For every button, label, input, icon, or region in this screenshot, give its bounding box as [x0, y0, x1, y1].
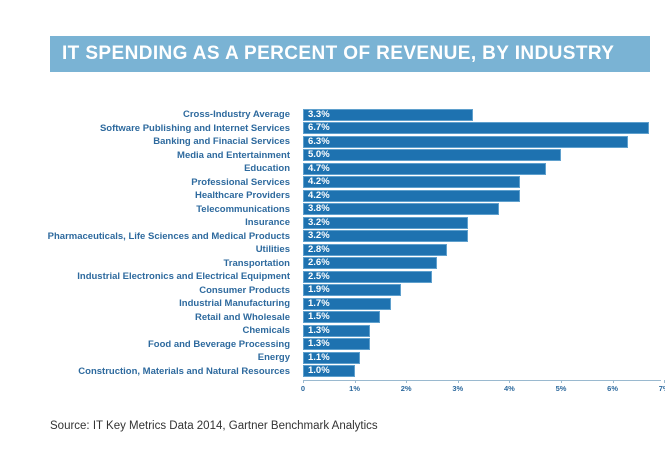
tick-label: 0	[301, 384, 305, 393]
category-label: Professional Services	[0, 176, 296, 190]
tick-mark	[303, 380, 304, 383]
bar-row: Food and Beverage Processing1.3%	[0, 338, 665, 352]
category-label: Food and Beverage Processing	[0, 338, 296, 352]
category-label: Energy	[0, 351, 296, 365]
bar: 3.2%	[303, 230, 468, 242]
tick-mark	[355, 380, 356, 383]
bar-value-label: 1.9%	[304, 285, 330, 295]
category-label: Healthcare Providers	[0, 189, 296, 203]
tick-label: 3%	[452, 384, 463, 393]
bar: 3.3%	[303, 109, 473, 121]
bar-track: 4.2%	[303, 176, 520, 188]
bar-row: Retail and Wholesale1.5%	[0, 311, 665, 325]
bar-row: Energy1.1%	[0, 351, 665, 365]
bar-track: 1.3%	[303, 338, 370, 350]
bar: 2.5%	[303, 271, 432, 283]
bar: 6.7%	[303, 122, 649, 134]
bar-row: Transportation2.6%	[0, 257, 665, 271]
category-label: Construction, Materials and Natural Reso…	[0, 365, 296, 379]
bar-value-label: 4.2%	[304, 191, 330, 201]
bar-row: Industrial Manufacturing1.7%	[0, 297, 665, 311]
bar-value-label: 6.3%	[304, 137, 330, 147]
bar: 1.5%	[303, 311, 380, 323]
bar-row: Cross-Industry Average3.3%	[0, 108, 665, 122]
bar-track: 5.0%	[303, 149, 561, 161]
bar: 1.1%	[303, 352, 360, 364]
bar-value-label: 2.8%	[304, 245, 330, 255]
bar-track: 3.3%	[303, 109, 473, 121]
tick-mark	[561, 380, 562, 383]
bar: 4.2%	[303, 176, 520, 188]
bar-track: 1.0%	[303, 365, 355, 377]
bar-value-label: 5.0%	[304, 150, 330, 160]
bar-value-label: 1.7%	[304, 299, 330, 309]
bar-value-label: 2.6%	[304, 258, 330, 268]
x-axis-line	[303, 380, 661, 381]
bar-value-label: 3.2%	[304, 218, 330, 228]
bar-value-label: 3.2%	[304, 231, 330, 241]
bar-value-label: 3.8%	[304, 204, 330, 214]
tick-mark	[458, 380, 459, 383]
bar-row: Industrial Electronics and Electrical Eq…	[0, 270, 665, 284]
category-label: Insurance	[0, 216, 296, 230]
bar-value-label: 1.0%	[304, 366, 330, 376]
bar-row: Education4.7%	[0, 162, 665, 176]
category-label: Consumer Products	[0, 284, 296, 298]
bar: 3.2%	[303, 217, 468, 229]
bar-track: 2.8%	[303, 244, 447, 256]
bar-row: Consumer Products1.9%	[0, 284, 665, 298]
category-label: Cross-Industry Average	[0, 108, 296, 122]
bar-row: Insurance3.2%	[0, 216, 665, 230]
category-label: Education	[0, 162, 296, 176]
bar-value-label: 2.5%	[304, 272, 330, 282]
bar-value-label: 1.3%	[304, 339, 330, 349]
category-label: Industrial Electronics and Electrical Eq…	[0, 270, 296, 284]
tick-label: 2%	[401, 384, 412, 393]
tick-label: 4%	[504, 384, 515, 393]
bar: 5.0%	[303, 149, 561, 161]
bar-track: 4.7%	[303, 163, 546, 175]
bar: 6.3%	[303, 136, 628, 148]
tick-label: 6%	[607, 384, 618, 393]
page-title: IT SPENDING AS A PERCENT OF REVENUE, BY …	[50, 43, 614, 65]
bar: 3.8%	[303, 203, 499, 215]
bar-value-label: 1.5%	[304, 312, 330, 322]
bar-track: 2.5%	[303, 271, 432, 283]
bar-row: Pharmaceuticals, Life Sciences and Medic…	[0, 230, 665, 244]
tick-label: 7%	[659, 384, 665, 393]
category-label: Pharmaceuticals, Life Sciences and Medic…	[0, 230, 296, 244]
bar-chart: Cross-Industry Average3.3%Software Publi…	[0, 108, 665, 380]
bar-value-label: 4.2%	[304, 177, 330, 187]
bar: 1.9%	[303, 284, 401, 296]
bar-track: 1.7%	[303, 298, 391, 310]
bar-track: 1.9%	[303, 284, 401, 296]
source-note: Source: IT Key Metrics Data 2014, Gartne…	[50, 420, 378, 432]
bar: 1.3%	[303, 325, 370, 337]
tick-label: 1%	[349, 384, 360, 393]
bar-value-label: 1.1%	[304, 353, 330, 363]
bar: 4.7%	[303, 163, 546, 175]
bar: 1.3%	[303, 338, 370, 350]
bar-track: 6.3%	[303, 136, 628, 148]
category-label: Industrial Manufacturing	[0, 297, 296, 311]
category-label: Telecommunications	[0, 203, 296, 217]
category-label: Banking and Finacial Services	[0, 135, 296, 149]
bar-track: 3.2%	[303, 230, 468, 242]
bar-row: Healthcare Providers4.2%	[0, 189, 665, 203]
bar-track: 2.6%	[303, 257, 437, 269]
bar-track: 6.7%	[303, 122, 649, 134]
bar-value-label: 6.7%	[304, 123, 330, 133]
bar-row: Construction, Materials and Natural Reso…	[0, 365, 665, 379]
bar-row: Telecommunications3.8%	[0, 203, 665, 217]
bar-row: Banking and Finacial Services6.3%	[0, 135, 665, 149]
bar: 2.6%	[303, 257, 437, 269]
bar-track: 1.1%	[303, 352, 360, 364]
category-label: Media and Entertainment	[0, 149, 296, 163]
tick-mark	[613, 380, 614, 383]
bar-track: 1.5%	[303, 311, 380, 323]
tick-label: 5%	[556, 384, 567, 393]
bar-rows-container: Cross-Industry Average3.3%Software Publi…	[0, 108, 665, 378]
bar-value-label: 3.3%	[304, 110, 330, 120]
category-label: Chemicals	[0, 324, 296, 338]
bar-track: 3.2%	[303, 217, 468, 229]
category-label: Transportation	[0, 257, 296, 271]
category-label: Retail and Wholesale	[0, 311, 296, 325]
bar-row: Software Publishing and Internet Service…	[0, 122, 665, 136]
x-axis: 01%2%3%4%5%6%7%	[303, 380, 665, 402]
bar-row: Professional Services4.2%	[0, 176, 665, 190]
bar-track: 3.8%	[303, 203, 499, 215]
bar-row: Utilities2.8%	[0, 243, 665, 257]
category-label: Utilities	[0, 243, 296, 257]
bar-row: Media and Entertainment5.0%	[0, 149, 665, 163]
bar-value-label: 1.3%	[304, 326, 330, 336]
bar: 1.7%	[303, 298, 391, 310]
category-label: Software Publishing and Internet Service…	[0, 122, 296, 136]
bar-track: 1.3%	[303, 325, 370, 337]
bar: 4.2%	[303, 190, 520, 202]
bar-row: Chemicals1.3%	[0, 324, 665, 338]
bar-track: 4.2%	[303, 190, 520, 202]
bar: 2.8%	[303, 244, 447, 256]
bar: 1.0%	[303, 365, 355, 377]
tick-mark	[406, 380, 407, 383]
tick-mark	[509, 380, 510, 383]
bar-value-label: 4.7%	[304, 164, 330, 174]
chart-title-banner: IT SPENDING AS A PERCENT OF REVENUE, BY …	[50, 36, 650, 72]
